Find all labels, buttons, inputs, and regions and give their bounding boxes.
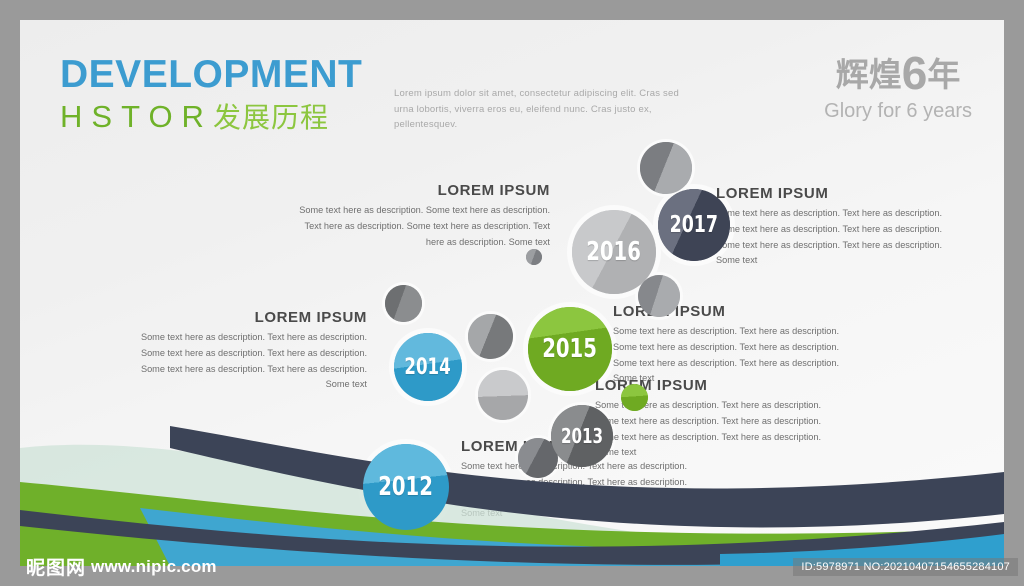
decor-circle-green-small (621, 384, 648, 411)
decor-split (468, 314, 513, 359)
year-circle-2016[interactable]: 2016 (572, 210, 656, 294)
decor-circle-3 (526, 249, 542, 265)
year-circle-2015[interactable]: 2015 (528, 307, 612, 391)
timeline-text-2017: LOREM IPSUM Some text here as descriptio… (716, 185, 958, 269)
glory-cn-num: 6 (902, 47, 928, 99)
decor-circle-1 (640, 142, 692, 194)
year-label-2012: 2012 (379, 472, 434, 502)
timeline-heading-2017: LOREM IPSUM (716, 185, 958, 202)
timeline-body-2017: Some text here as description. Text here… (716, 206, 958, 269)
decor-split (478, 370, 528, 420)
watermark: 昵图网 www.nipic.com (26, 553, 217, 580)
glory-en: Glory for 6 years (824, 101, 972, 121)
year-circle-2017[interactable]: 2017 (658, 189, 730, 261)
decor-split (526, 249, 542, 265)
decor-circle-6 (478, 370, 528, 420)
year-circle-2014[interactable]: 2014 (394, 333, 462, 401)
poster-canvas: DEVELOPMENT HSTOR 发展历程 Lorem ipsum dolor… (20, 20, 1004, 566)
year-label-2014: 2014 (405, 355, 451, 380)
timeline-body-2016: Some text here as description. Some text… (285, 203, 550, 250)
year-circle-2013[interactable]: 2013 (551, 405, 613, 467)
timeline-text-2014: LOREM IPSUM Some text here as descriptio… (115, 309, 367, 393)
year-label-2013: 2013 (561, 424, 603, 448)
year-circle-2012[interactable]: 2012 (363, 444, 449, 530)
decor-circle-5 (468, 314, 513, 359)
glory-cn-pre: 辉煌 (836, 56, 902, 93)
decor-split (640, 142, 692, 194)
timeline-heading-2016: LOREM IPSUM (285, 182, 550, 199)
decor-circle-4 (385, 285, 422, 322)
header-paragraph: Lorem ipsum dolor sit amet, consectetur … (394, 86, 694, 133)
image-id-text: ID:5978971 NO:20210407154655284107 (793, 558, 1018, 576)
poster-root: DEVELOPMENT HSTOR 发展历程 Lorem ipsum dolor… (0, 0, 1024, 586)
title-sub-cn: 发展历程 (213, 104, 329, 132)
glory-cn: 辉煌6年 (824, 50, 972, 96)
page-title: DEVELOPMENT HSTOR 发展历程 (60, 55, 362, 132)
watermark-cn: 昵图网 (26, 553, 86, 580)
watermark-url: www.nipic.com (91, 557, 217, 577)
title-subtitle: HSTOR 发展历程 (60, 101, 362, 132)
title-sub-en: HSTOR (60, 101, 213, 132)
timeline-heading-2014: LOREM IPSUM (115, 309, 367, 326)
glory-cn-post: 年 (927, 56, 960, 93)
glory-badge: 辉煌6年 Glory for 6 years (824, 50, 972, 121)
year-label-2017: 2017 (670, 212, 718, 238)
timeline-body-2014: Some text here as description. Text here… (115, 330, 367, 393)
year-label-2016: 2016 (587, 237, 642, 267)
title-main: DEVELOPMENT (60, 55, 362, 94)
year-label-2015: 2015 (543, 334, 598, 364)
decor-split (385, 285, 422, 322)
timeline-text-2016: LOREM IPSUM Some text here as descriptio… (285, 182, 550, 250)
decor-split (621, 384, 648, 411)
